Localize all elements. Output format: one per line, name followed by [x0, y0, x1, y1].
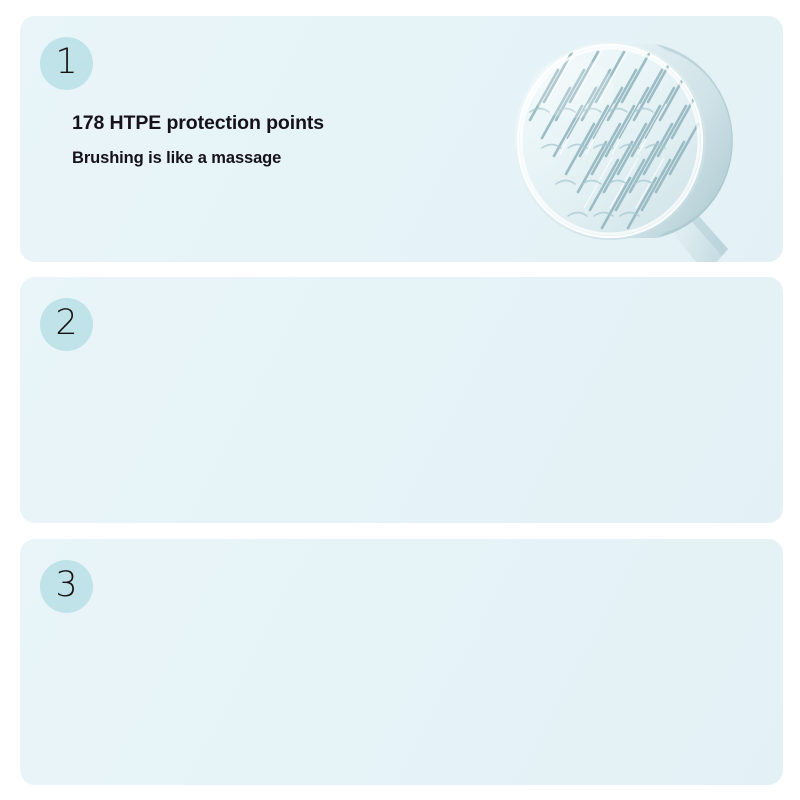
step-number-3: 3 [55, 568, 77, 603]
feature-subline-1: Brushing is like a massage [72, 149, 492, 168]
feature-card-2: 2 140˚curved comb teeth Anti-static bett… [20, 277, 783, 523]
feature-headline-1: 178 HTPE protection points [72, 112, 492, 135]
feature-card-2-inner: 2 140˚curved comb teeth Anti-static bett… [20, 277, 783, 523]
feature-card-3: 3 Rounded and comfortable handle Combing… [20, 539, 783, 785]
feature-card-1-inner: 1 178 HTPE protection points Brushing is… [20, 16, 783, 262]
round-brush-head-icon [460, 16, 783, 262]
feature-text-1: 178 HTPE protection points Brushing is l… [72, 112, 492, 168]
step-badge-3: 3 [40, 560, 93, 613]
step-number-1: 1 [55, 45, 77, 80]
product-feature-infographic: 1 178 HTPE protection points Brushing is… [0, 0, 800, 800]
feature-card-3-inner: 3 Rounded and comfortable handle Combing… [20, 539, 783, 785]
step-badge-2: 2 [40, 298, 93, 351]
step-number-2: 2 [55, 306, 77, 341]
feature-card-1: 1 178 HTPE protection points Brushing is… [20, 16, 783, 262]
step-badge-1: 1 [40, 37, 93, 90]
